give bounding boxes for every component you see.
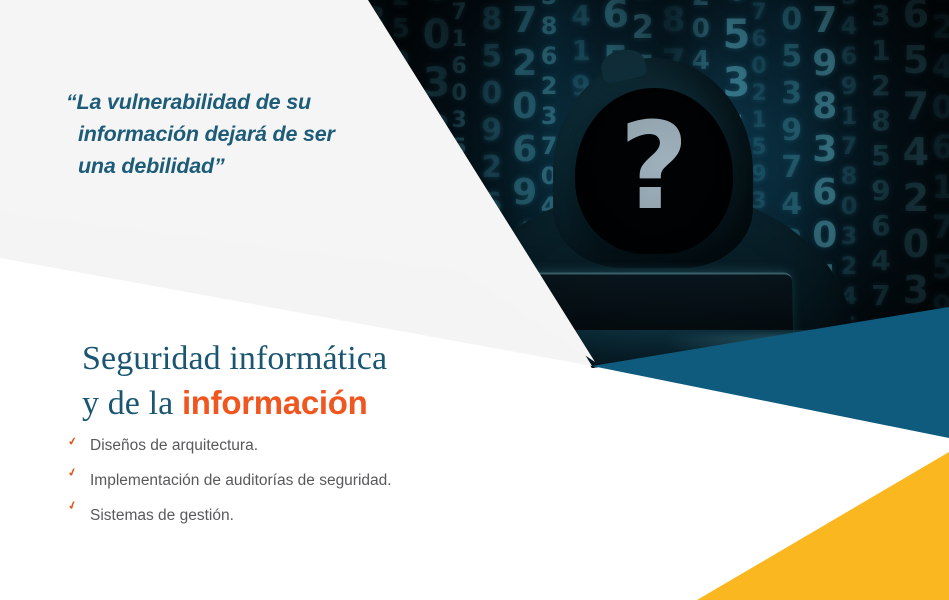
- list-item: ✔Sistemas de gestión.: [66, 504, 496, 528]
- list-item-label: Implementación de auditorías de segurida…: [90, 472, 392, 489]
- check-icon: ✔: [66, 499, 79, 513]
- pull-quote: “La vulnerabilidad de su información dej…: [66, 86, 366, 182]
- list-item: ✔Implementación de auditorías de segurid…: [66, 469, 496, 493]
- headline-accent-word: información: [182, 384, 368, 421]
- check-icon: ✔: [67, 466, 79, 479]
- page-title: Seguridad informática y de la informació…: [82, 337, 387, 426]
- quote-line-2: información dejará de ser: [66, 118, 366, 150]
- headline-prefix: y de la: [82, 385, 182, 422]
- quote-line-3: una debilidad”: [66, 150, 366, 182]
- slide-canvas: 8740261935827046259371480639527160385279…: [0, 0, 949, 600]
- service-list: ✔Diseños de arquitectura.✔Implementación…: [66, 434, 496, 539]
- quote-line-1: “La vulnerabilidad de su: [66, 86, 366, 118]
- list-item-label: Sistemas de gestión.: [90, 507, 234, 524]
- headline-line-2: y de la información: [82, 381, 387, 426]
- list-item: ✔Diseños de arquitectura.: [66, 434, 496, 458]
- check-icon: ✔: [67, 435, 78, 448]
- list-item-label: Diseños de arquitectura.: [90, 437, 258, 454]
- headline-line-1: Seguridad informática: [82, 337, 387, 381]
